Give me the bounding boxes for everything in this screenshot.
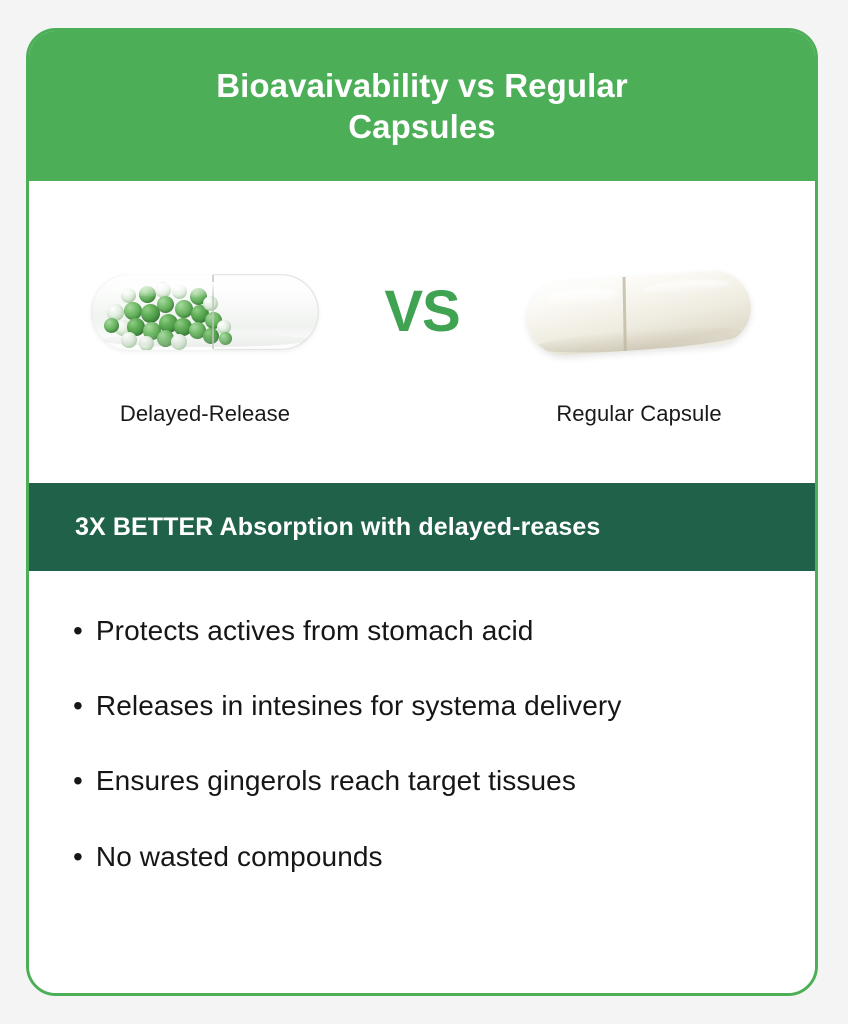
delayed-release-capsule-cell (63, 237, 347, 387)
capsule-gloss-secondary (643, 278, 730, 296)
capsule-comparison-row: VS (29, 237, 815, 387)
delayed-release-label: Delayed-Release (63, 401, 347, 427)
capsule-gloss (109, 282, 299, 298)
regular-capsule-image (525, 260, 753, 364)
benefits-list: • Protects actives from stomach acid • R… (29, 571, 815, 993)
page-title: Bioavaivability vs Regular Capsules (216, 65, 628, 148)
transparent-capsule-icon (91, 274, 319, 350)
capsule-bead (203, 296, 218, 311)
card-header: Bioavaivability vs Regular Capsules (29, 31, 815, 181)
list-item-label: Ensures gingerols reach target tissues (96, 765, 576, 797)
delayed-release-capsule-image (91, 260, 319, 364)
infographic-card: Bioavaivability vs Regular Capsules (26, 28, 818, 996)
list-item: • Releases in intesines for systema deli… (73, 690, 769, 722)
opaque-capsule-icon (525, 268, 754, 357)
bullet-icon: • (73, 690, 83, 722)
regular-capsule-cell (497, 237, 781, 387)
capsule-comparison-section: VS Delayed-Release Regular Capsule (29, 181, 815, 483)
bullet-icon: • (73, 841, 83, 873)
list-item-label: Protects actives from stomach acid (96, 615, 534, 647)
list-item: • No wasted compounds (73, 841, 769, 873)
list-item: • Ensures gingerols reach target tissues (73, 765, 769, 797)
label-spacer (347, 401, 497, 427)
capsule-bead (104, 318, 119, 333)
vs-cell: VS (347, 283, 497, 341)
capsule-bead (157, 296, 174, 313)
vs-label: VS (384, 283, 459, 341)
capsule-gloss (547, 286, 618, 306)
regular-capsule-label: Regular Capsule (497, 401, 781, 427)
list-item-label: Releases in intesines for systema delive… (96, 690, 622, 722)
bullet-icon: • (73, 765, 83, 797)
bullet-icon: • (73, 615, 83, 647)
list-item-label: No wasted compounds (96, 841, 383, 873)
capsule-shadow (534, 323, 747, 358)
absorption-highlight-text: 3X BETTER Absorption with delayed-reases (75, 512, 600, 542)
absorption-highlight-banner: 3X BETTER Absorption with delayed-reases (29, 483, 815, 571)
capsule-labels-row: Delayed-Release Regular Capsule (29, 401, 815, 427)
list-item: • Protects actives from stomach acid (73, 615, 769, 647)
capsule-shadow (101, 333, 309, 347)
